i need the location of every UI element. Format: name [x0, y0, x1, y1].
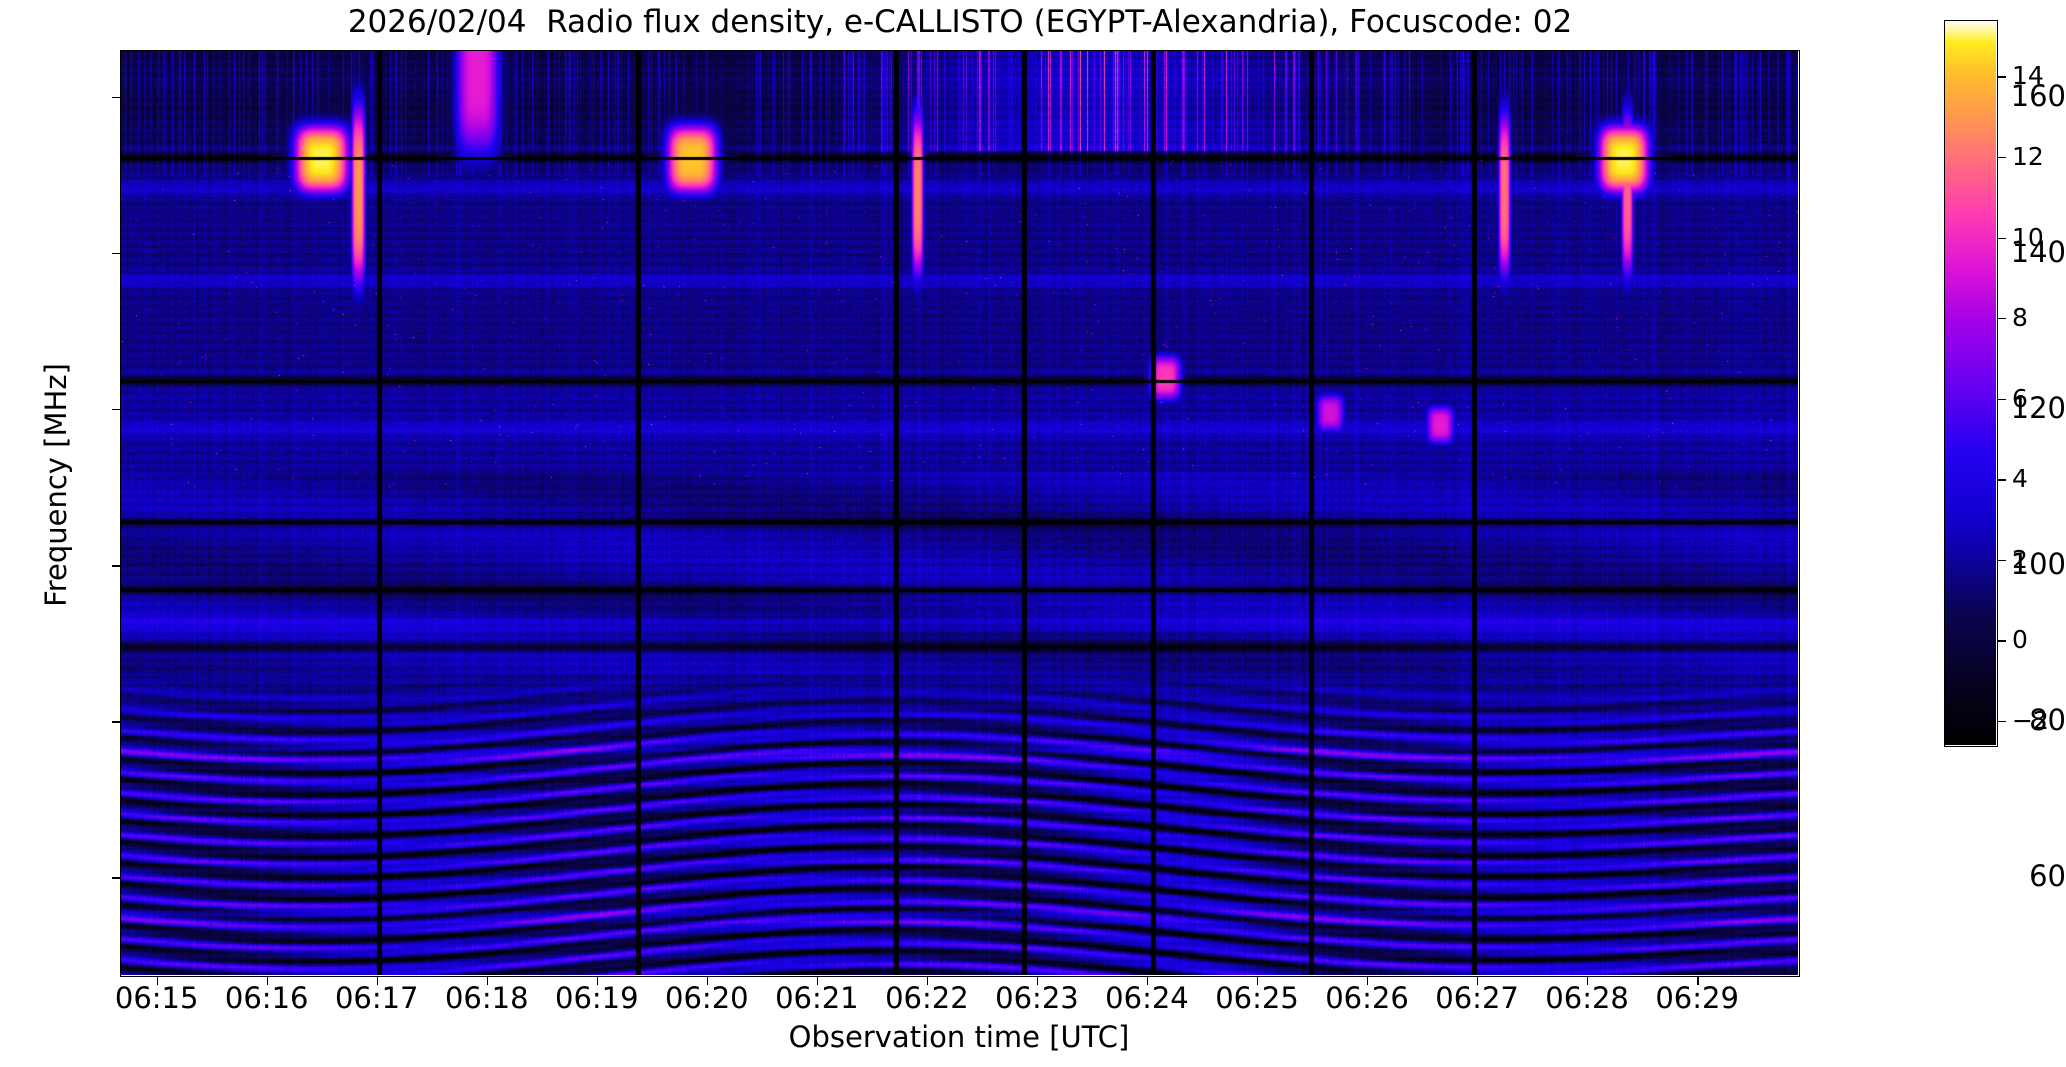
colorbar-tick-label: 6 — [2012, 386, 2066, 411]
x-tick-mark — [927, 976, 928, 985]
figure-title: 2026/02/04 Radio flux density, e-CALLIST… — [0, 2, 1920, 42]
y-tick-mark — [112, 409, 121, 410]
y-tick-mark — [112, 721, 121, 722]
x-tick-mark — [707, 976, 708, 985]
y-tick-mark — [112, 877, 121, 878]
x-tick-mark — [377, 976, 378, 985]
x-tick-mark — [1477, 976, 1478, 985]
colorbar-tick-label: 4 — [2012, 466, 2066, 491]
colorbar-tick-mark — [1997, 76, 2006, 77]
colorbar-tick-mark — [1997, 318, 2006, 319]
colorbar-tick-label: 8 — [2012, 305, 2066, 330]
x-tick-mark — [157, 976, 158, 985]
x-tick-mark — [1587, 976, 1588, 985]
y-axis-label: Frequency [MHz] — [39, 35, 73, 935]
colorbar-tick-label: 14 — [2012, 63, 2066, 88]
x-tick-mark — [1147, 976, 1148, 985]
colorbar-tick-mark — [1997, 560, 2006, 561]
x-tick-mark — [267, 976, 268, 985]
colorbar-tick-mark — [1997, 479, 2006, 480]
x-tick-mark — [1257, 976, 1258, 985]
spectrogram-figure: 2026/02/04 Radio flux density, e-CALLIST… — [0, 0, 2066, 1067]
y-tick-mark — [112, 97, 121, 98]
x-tick-mark — [1697, 976, 1698, 985]
y-tick-mark — [112, 253, 121, 254]
y-tick-mark — [112, 565, 121, 566]
x-tick-mark — [1037, 976, 1038, 985]
colorbar-tick-mark — [1997, 399, 2006, 400]
x-tick-label: 06:29 — [1617, 983, 1777, 1013]
x-tick-mark — [1367, 976, 1368, 985]
colorbar-tick-label: −2 — [2012, 708, 2066, 733]
colorbar-tick-label: 10 — [2012, 225, 2066, 250]
colorbar-tick-mark — [1997, 721, 2006, 722]
colorbar-tick-label: 2 — [2012, 547, 2066, 572]
x-tick-mark — [817, 976, 818, 985]
x-tick-mark — [597, 976, 598, 985]
y-tick-label: 60 — [1982, 862, 2066, 891]
x-axis-label: Observation time [UTC] — [120, 1020, 1798, 1054]
colorbar-tick-label: 12 — [2012, 144, 2066, 169]
spectrogram-canvas — [120, 50, 1798, 975]
colorbar-tick-mark — [1997, 640, 2006, 641]
colorbar-tick-label: 0 — [2012, 627, 2066, 652]
colorbar-gradient — [1944, 20, 1996, 745]
x-tick-mark — [487, 976, 488, 985]
colorbar-tick-mark — [1997, 238, 2006, 239]
spectrogram-plot-area[interactable] — [120, 50, 1798, 975]
colorbar-tick-mark — [1997, 157, 2006, 158]
colorbar[interactable] — [1944, 20, 1996, 745]
